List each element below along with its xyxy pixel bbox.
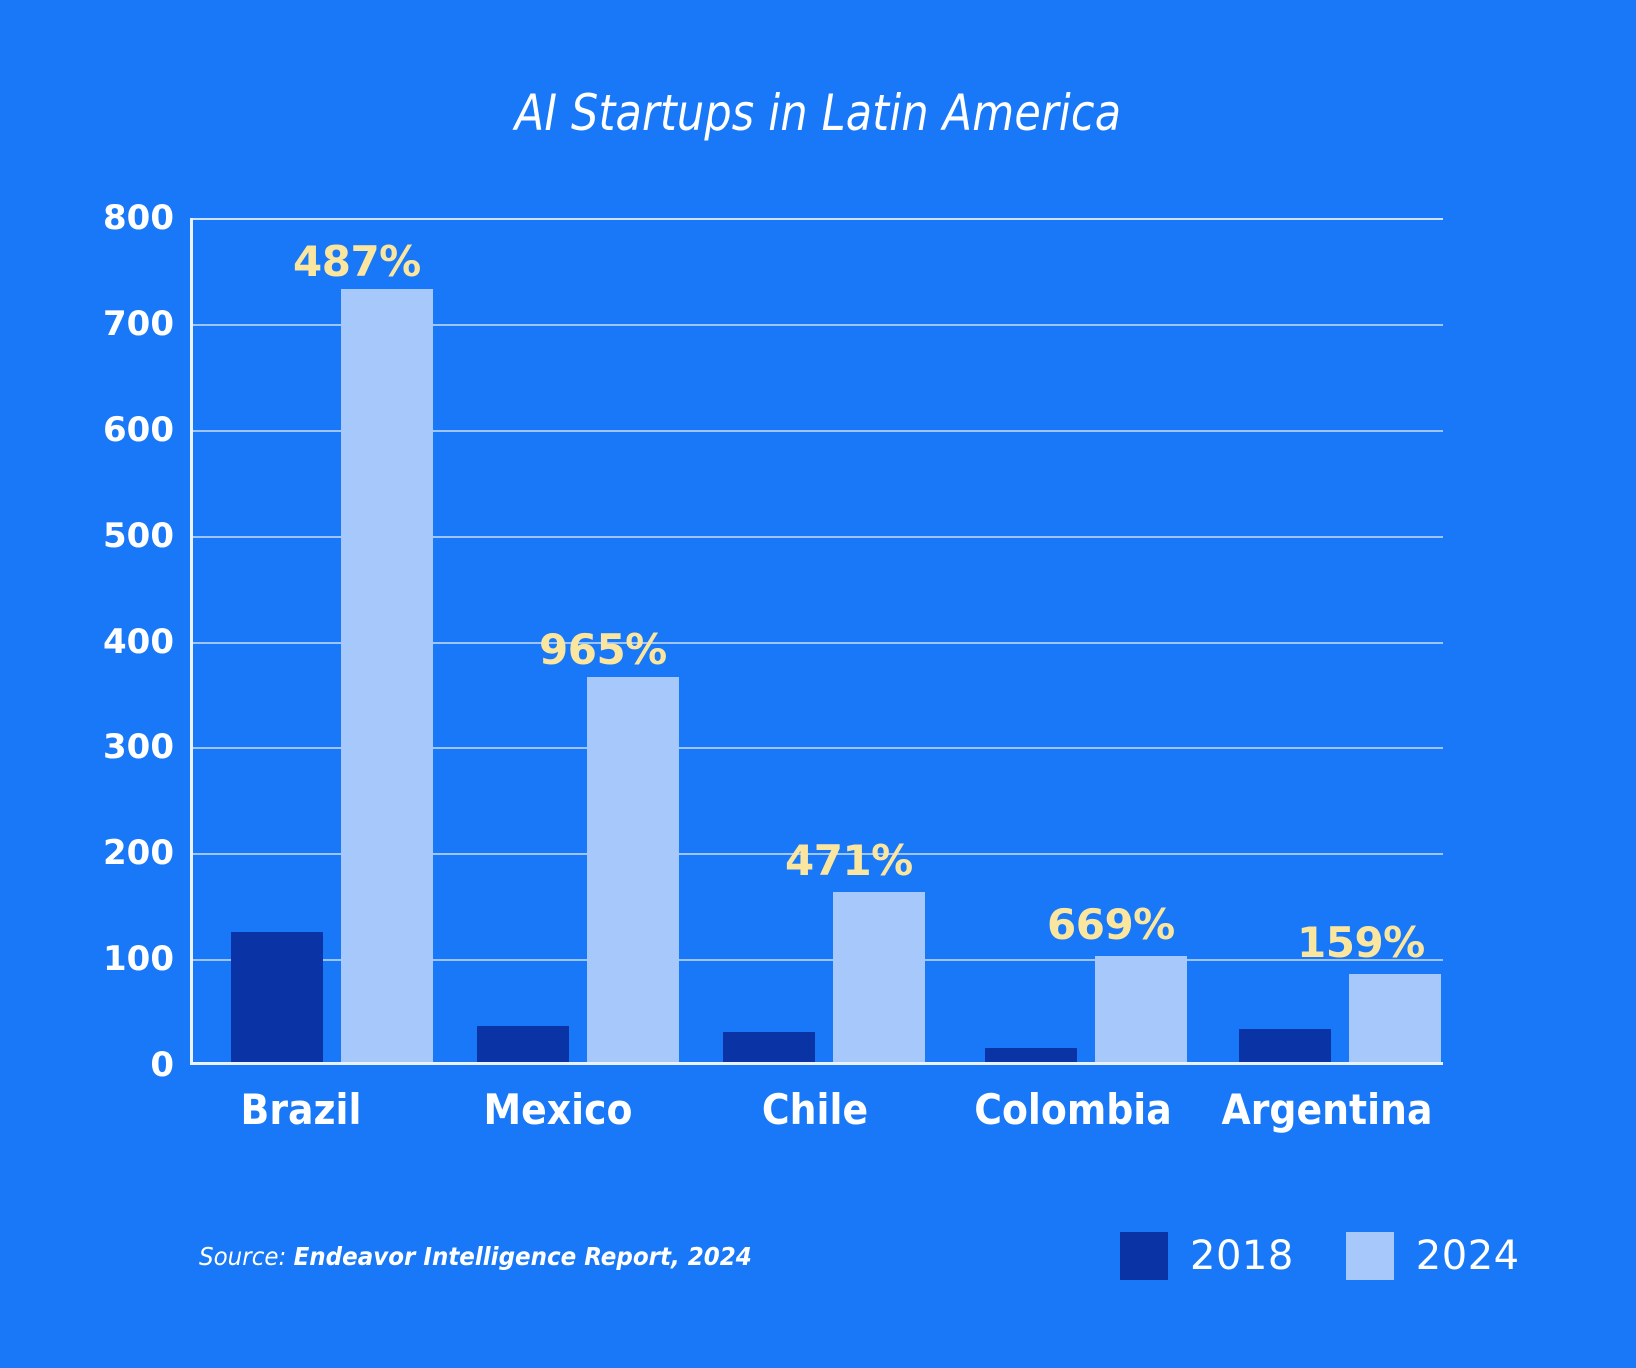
- bar-colombia-2018[interactable]: [985, 1048, 1077, 1062]
- legend-label-2018: 2018: [1190, 1233, 1294, 1279]
- bar-mexico-2018[interactable]: [477, 1026, 569, 1062]
- bar-group-chile: 471%: [723, 218, 933, 1062]
- y-axis-tick-300: 300: [42, 727, 174, 767]
- x-axis-label-colombia: Colombia: [974, 1085, 1172, 1134]
- bar-colombia-2024[interactable]: [1095, 956, 1187, 1062]
- bar-chile-2018[interactable]: [723, 1032, 815, 1062]
- chart-canvas: 800 700 600 500 400 300 200 100 0 487% 9…: [0, 0, 1636, 1368]
- bar-chile-2024[interactable]: [833, 892, 925, 1062]
- bar-argentina-2024[interactable]: [1349, 974, 1441, 1062]
- bar-group-argentina: 159%: [1239, 218, 1449, 1062]
- source-label: Source:: [199, 1242, 286, 1271]
- legend-swatch-2024: [1346, 1232, 1394, 1280]
- y-axis-tick-700: 700: [42, 304, 174, 344]
- value-label-chile: 471%: [785, 836, 913, 885]
- x-axis-label-brazil: Brazil: [241, 1085, 362, 1134]
- y-axis-tick-800: 800: [42, 198, 174, 238]
- y-axis-tick-200: 200: [42, 833, 174, 873]
- bar-group-colombia: 669%: [985, 218, 1195, 1062]
- value-label-colombia: 669%: [1047, 900, 1175, 949]
- bar-argentina-2018[interactable]: [1239, 1029, 1331, 1062]
- y-axis-tick-0: 0: [42, 1045, 174, 1085]
- source-value: Endeavor Intelligence Report, 2024: [294, 1242, 752, 1271]
- legend-swatch-2018: [1120, 1232, 1168, 1280]
- chart-legend: 2018 2024: [1120, 1232, 1520, 1280]
- bar-group-mexico: 965%: [477, 218, 687, 1062]
- x-axis-label-mexico: Mexico: [484, 1085, 633, 1134]
- value-label-argentina: 159%: [1297, 918, 1425, 967]
- legend-item-2024[interactable]: 2024: [1346, 1232, 1520, 1280]
- value-label-mexico: 965%: [539, 625, 667, 674]
- y-axis-tick-600: 600: [42, 410, 174, 450]
- bar-brazil-2018[interactable]: [231, 932, 323, 1062]
- value-label-brazil: 487%: [293, 237, 421, 286]
- source-note: Source: Endeavor Intelligence Report, 20…: [199, 1242, 752, 1271]
- legend-item-2018[interactable]: 2018: [1120, 1232, 1294, 1280]
- bar-brazil-2024[interactable]: [341, 289, 433, 1062]
- x-axis-label-argentina: Argentina: [1222, 1085, 1433, 1134]
- legend-label-2024: 2024: [1416, 1233, 1520, 1279]
- plot-area: 487% 965% 471% 669% 159%: [190, 218, 1443, 1065]
- y-axis-tick-100: 100: [42, 939, 174, 979]
- bar-group-brazil: 487%: [231, 218, 441, 1062]
- x-axis-label-chile: Chile: [762, 1085, 868, 1134]
- y-axis-tick-400: 400: [42, 622, 174, 662]
- bar-mexico-2024[interactable]: [587, 677, 679, 1062]
- y-axis-tick-500: 500: [42, 516, 174, 556]
